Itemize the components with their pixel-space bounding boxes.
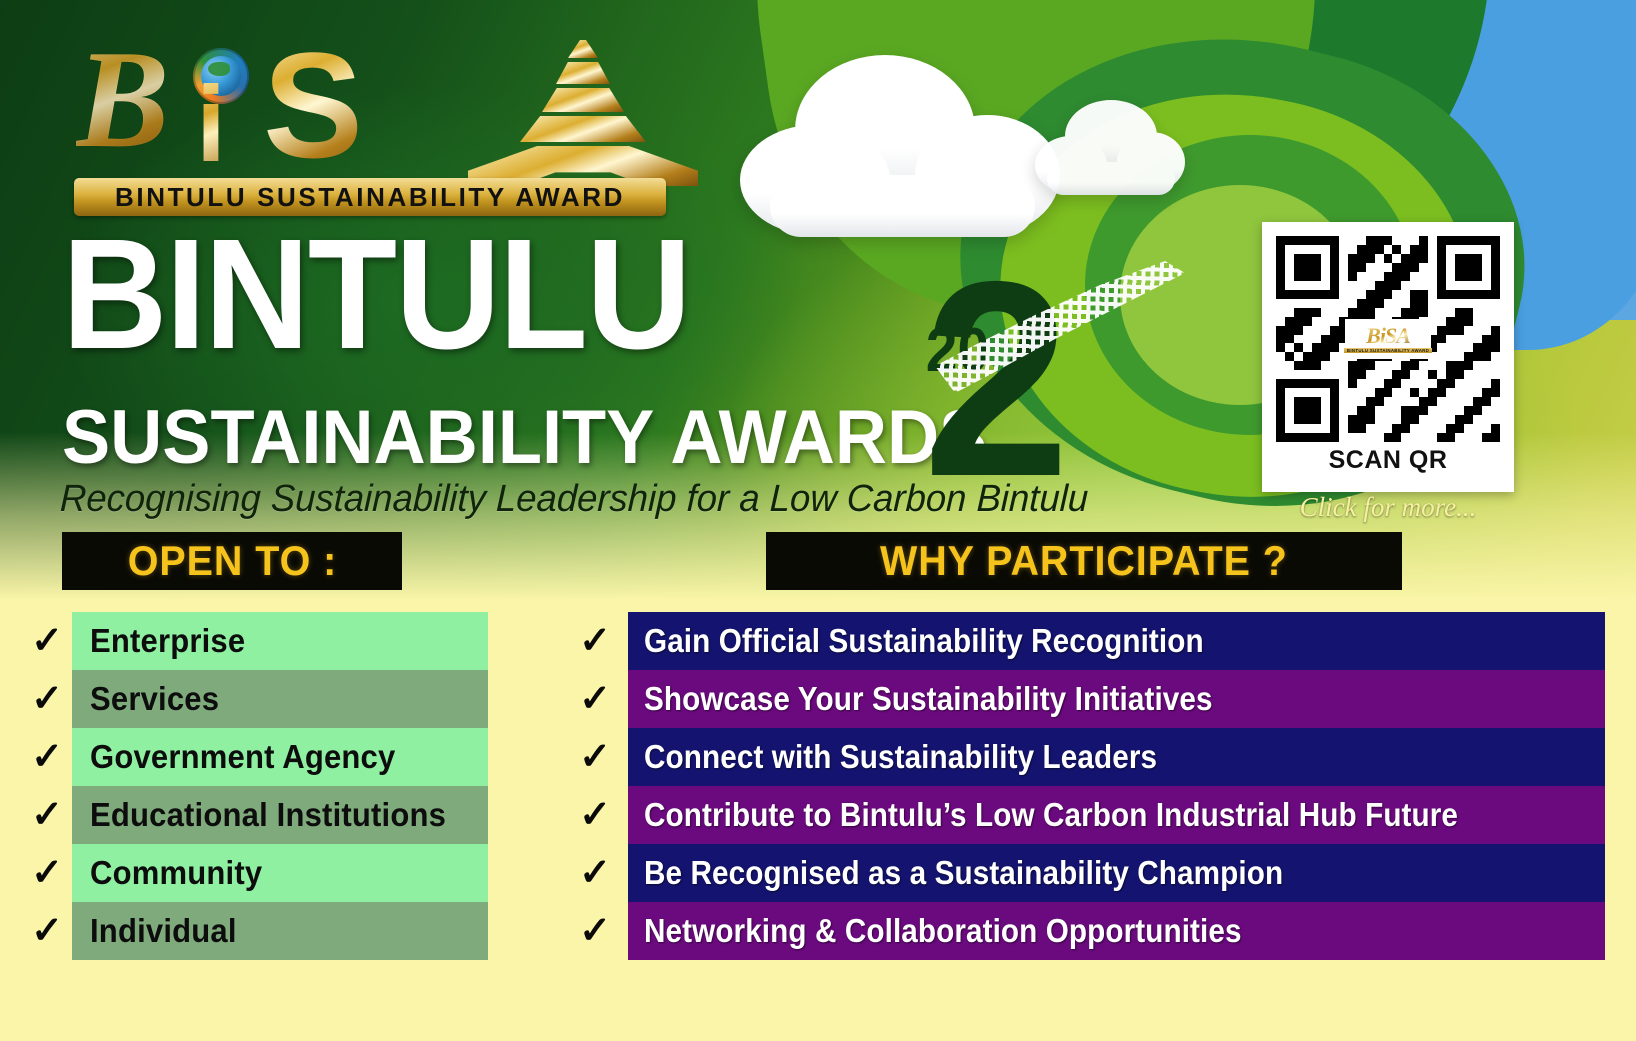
qr-module [1437, 272, 1446, 281]
page-subtitle: SUSTAINABILITY AWARDS [62, 400, 987, 476]
qr-module [1276, 406, 1285, 415]
qr-module [1419, 406, 1428, 415]
why-participate-label: Networking & Collaboration Opportunities [644, 912, 1242, 950]
qr-module [1464, 415, 1473, 424]
qr-module [1330, 424, 1339, 433]
qr-module [1348, 361, 1357, 370]
qr-module [1357, 263, 1366, 272]
qr-module [1303, 415, 1312, 424]
qr-module [1392, 424, 1401, 433]
qr-module [1303, 406, 1312, 415]
open-to-row-3: Government Agency [72, 728, 488, 786]
qr-module [1455, 254, 1464, 263]
qr-module [1330, 281, 1339, 290]
why-participate-label: Gain Official Sustainability Recognition [644, 622, 1204, 660]
qr-module [1312, 254, 1321, 263]
qr-module [1401, 263, 1410, 272]
qr-module [1419, 236, 1428, 245]
qr-module [1348, 308, 1357, 317]
qr-module [1401, 370, 1410, 379]
qr-module [1491, 245, 1500, 254]
qr-module [1410, 415, 1419, 424]
qr-module [1276, 415, 1285, 424]
qr-module [1357, 361, 1366, 370]
qr-module [1366, 245, 1375, 254]
qr-module [1294, 308, 1303, 317]
qr-module [1375, 397, 1384, 406]
qr-module [1464, 236, 1473, 245]
qr-module [1455, 370, 1464, 379]
list-item: ✓Services [22, 670, 488, 728]
qr-module [1437, 388, 1446, 397]
qr-module [1482, 433, 1491, 442]
section-heading-open-to-label: OPEN TO : [127, 537, 337, 585]
qr-module [1419, 308, 1428, 317]
qr-module [1384, 290, 1393, 299]
qr-module [1357, 245, 1366, 254]
open-to-label: Community [90, 854, 262, 892]
qr-module [1491, 379, 1500, 388]
qr-module [1330, 397, 1339, 406]
qr-module [1357, 415, 1366, 424]
qr-module [1366, 299, 1375, 308]
qr-module [1276, 290, 1285, 299]
qr-module [1366, 361, 1375, 370]
check-icon: ✓ [562, 844, 628, 902]
qr-module [1285, 326, 1294, 335]
qr-module [1392, 379, 1401, 388]
qr-module [1437, 245, 1446, 254]
qr-module [1294, 433, 1303, 442]
qr-module [1437, 379, 1446, 388]
qr-module [1446, 370, 1455, 379]
open-to-label: Individual [90, 912, 237, 950]
qr-module [1491, 254, 1500, 263]
qr-module [1276, 254, 1285, 263]
qr-module [1446, 290, 1455, 299]
why-participate-label: Showcase Your Sustainability Initiatives [644, 680, 1213, 718]
qr-module [1473, 290, 1482, 299]
open-to-row-6: Individual [72, 902, 488, 960]
qr-module [1321, 335, 1330, 344]
year-badge: 6 2 20 [905, 232, 1225, 497]
qr-module [1491, 388, 1500, 397]
bisa-logo[interactable]: B i S BINTULU SUSTAINABILITY AWARD [68, 22, 668, 217]
qr-module [1312, 397, 1321, 406]
qr-module [1312, 361, 1321, 370]
qr-module [1428, 370, 1437, 379]
qr-module [1410, 406, 1419, 415]
poster-canvas: B i S BINTULU SUSTAINABILITY AWARD BINTU… [0, 0, 1636, 1041]
qr-module [1276, 379, 1285, 388]
qr-module [1491, 263, 1500, 272]
qr-module [1276, 245, 1285, 254]
why-participate-label: Contribute to Bintulu’s Low Carbon Indus… [644, 796, 1458, 834]
qr-module [1473, 343, 1482, 352]
logo-letter-s: S [263, 30, 363, 180]
qr-module [1464, 290, 1473, 299]
qr-module [1294, 406, 1303, 415]
qr-module [1410, 263, 1419, 272]
why-participate-label: Connect with Sustainability Leaders [644, 738, 1157, 776]
qr-module [1392, 281, 1401, 290]
qr-module [1303, 254, 1312, 263]
qr-module [1285, 236, 1294, 245]
qr-module [1401, 308, 1410, 317]
qr-module [1321, 352, 1330, 361]
year-digit-6: 6 [1075, 240, 1222, 518]
qr-module [1312, 343, 1321, 352]
qr-module [1437, 263, 1446, 272]
qr-module [1473, 254, 1482, 263]
list-item: ✓Community [22, 844, 488, 902]
qr-module [1276, 433, 1285, 442]
qr-module [1392, 245, 1401, 254]
list-item: ✓Educational Institutions [22, 786, 488, 844]
qr-module [1303, 263, 1312, 272]
open-to-label: Services [90, 680, 219, 718]
list-item: ✓Government Agency [22, 728, 488, 786]
qr-module [1357, 254, 1366, 263]
qr-module [1375, 281, 1384, 290]
qr-module [1464, 308, 1473, 317]
qr-module [1455, 361, 1464, 370]
qr-module [1437, 290, 1446, 299]
qr-module [1321, 236, 1330, 245]
qr-module [1419, 254, 1428, 263]
open-to-row-1: Enterprise [72, 612, 488, 670]
qr-module [1312, 415, 1321, 424]
qr-module [1312, 308, 1321, 317]
qr-module [1348, 370, 1357, 379]
qr-module [1491, 236, 1500, 245]
qr-module [1464, 352, 1473, 361]
qr-module [1428, 397, 1437, 406]
qr-module [1276, 397, 1285, 406]
qr-module [1446, 326, 1455, 335]
qr-module [1294, 326, 1303, 335]
check-icon: ✓ [562, 786, 628, 844]
qr-module [1294, 254, 1303, 263]
check-icon: ✓ [22, 844, 72, 902]
qr-module [1303, 272, 1312, 281]
qr-module [1366, 236, 1375, 245]
qr-module [1375, 388, 1384, 397]
qr-module [1446, 317, 1455, 326]
qr-module [1384, 379, 1393, 388]
why-participate-row-5: Be Recognised as a Sustainability Champi… [628, 844, 1605, 902]
qr-module [1446, 379, 1455, 388]
qr-module [1491, 272, 1500, 281]
qr-module [1482, 388, 1491, 397]
qr-module [1321, 433, 1330, 442]
logo-letter-i: i [196, 70, 226, 178]
qr-module [1473, 263, 1482, 272]
qr-module [1366, 397, 1375, 406]
qr-module [1321, 290, 1330, 299]
qr-embedded-logo: BiSA BINTULU SUSTAINABILITY AWARD [1345, 319, 1431, 359]
qr-module [1276, 424, 1285, 433]
qr-module [1303, 397, 1312, 406]
list-item: ✓Networking & Collaboration Opportunitie… [562, 902, 1605, 960]
qr-module [1330, 379, 1339, 388]
qr-module [1464, 317, 1473, 326]
qr-module [1384, 388, 1393, 397]
section-heading-why-participate: WHY PARTICIPATE ? [766, 532, 1402, 590]
qr-module [1446, 424, 1455, 433]
qr-module [1392, 370, 1401, 379]
why-participate-row-6: Networking & Collaboration Opportunities [628, 902, 1605, 960]
qr-module [1294, 343, 1303, 352]
qr-module [1446, 236, 1455, 245]
qr-code-card[interactable]: BiSA BINTULU SUSTAINABILITY AWARD SCAN Q… [1262, 222, 1514, 492]
qr-module [1294, 236, 1303, 245]
open-to-list: ✓Enterprise✓Services✓Government Agency✓E… [22, 612, 488, 960]
qr-module [1473, 406, 1482, 415]
qr-module [1348, 272, 1357, 281]
qr-module [1464, 272, 1473, 281]
qr-module [1312, 272, 1321, 281]
qr-module [1410, 245, 1419, 254]
qr-module [1276, 272, 1285, 281]
qr-module [1392, 433, 1401, 442]
qr-module [1375, 299, 1384, 308]
qr-module [1384, 272, 1393, 281]
qr-module [1285, 433, 1294, 442]
qr-module [1285, 317, 1294, 326]
qr-module [1276, 388, 1285, 397]
qr-module [1401, 254, 1410, 263]
qr-module [1419, 290, 1428, 299]
qr-module [1473, 272, 1482, 281]
qr-module [1357, 299, 1366, 308]
qr-module [1303, 308, 1312, 317]
qr-module [1455, 272, 1464, 281]
why-participate-row-1: Gain Official Sustainability Recognition [628, 612, 1605, 670]
list-item: ✓Showcase Your Sustainability Initiative… [562, 670, 1605, 728]
qr-module [1348, 415, 1357, 424]
qr-module [1294, 379, 1303, 388]
why-participate-row-4: Contribute to Bintulu’s Low Carbon Indus… [628, 786, 1605, 844]
qr-module [1473, 397, 1482, 406]
check-icon: ✓ [22, 612, 72, 670]
qr-logo-mark: BiSA [1366, 325, 1410, 347]
open-to-label: Enterprise [90, 622, 245, 660]
qr-module [1482, 335, 1491, 344]
qr-module [1294, 290, 1303, 299]
qr-module [1384, 236, 1393, 245]
qr-module [1491, 433, 1500, 442]
list-item: ✓Connect with Sustainability Leaders [562, 728, 1605, 786]
qr-module [1482, 290, 1491, 299]
qr-module [1410, 388, 1419, 397]
qr-module [1294, 361, 1303, 370]
qr-module [1464, 254, 1473, 263]
qr-module [1473, 236, 1482, 245]
qr-module [1384, 433, 1393, 442]
logo-letter-b: B [76, 30, 169, 170]
qr-module [1276, 335, 1285, 344]
list-item: ✓Enterprise [22, 612, 488, 670]
qr-module [1330, 263, 1339, 272]
qr-module [1366, 308, 1375, 317]
qr-module [1455, 326, 1464, 335]
qr-module [1330, 272, 1339, 281]
qr-module [1401, 272, 1410, 281]
qr-module [1392, 272, 1401, 281]
qr-module [1330, 335, 1339, 344]
qr-module [1464, 406, 1473, 415]
qr-module [1357, 424, 1366, 433]
check-icon: ✓ [562, 612, 628, 670]
bisa-logo-mark: B i S [68, 22, 668, 172]
qr-module [1330, 433, 1339, 442]
qr-module [1491, 424, 1500, 433]
qr-module [1437, 236, 1446, 245]
check-icon: ✓ [562, 670, 628, 728]
qr-module [1437, 433, 1446, 442]
qr-module [1455, 317, 1464, 326]
qr-module [1330, 326, 1339, 335]
qr-module [1410, 254, 1419, 263]
why-participate-row-2: Showcase Your Sustainability Initiatives [628, 670, 1605, 728]
why-participate-row-3: Connect with Sustainability Leaders [628, 728, 1605, 786]
qr-module [1312, 290, 1321, 299]
section-heading-open-to: OPEN TO : [62, 532, 402, 590]
qr-module [1303, 352, 1312, 361]
qr-module [1419, 245, 1428, 254]
qr-module [1357, 370, 1366, 379]
qr-module [1410, 290, 1419, 299]
qr-module [1375, 290, 1384, 299]
list-item: ✓Individual [22, 902, 488, 960]
check-icon: ✓ [562, 902, 628, 960]
why-participate-list: ✓Gain Official Sustainability Recognitio… [562, 612, 1605, 960]
qr-module [1455, 415, 1464, 424]
qr-module [1366, 406, 1375, 415]
qr-module [1276, 236, 1285, 245]
qr-module [1401, 424, 1410, 433]
qr-module [1401, 406, 1410, 415]
qr-module [1285, 379, 1294, 388]
qr-module [1357, 308, 1366, 317]
qr-module [1419, 299, 1428, 308]
qr-module [1410, 361, 1419, 370]
pyramid-tower-icon [468, 40, 698, 185]
qr-module [1401, 361, 1410, 370]
qr-module [1482, 397, 1491, 406]
check-icon: ✓ [22, 728, 72, 786]
qr-module [1276, 263, 1285, 272]
qr-module [1428, 388, 1437, 397]
qr-module [1437, 326, 1446, 335]
page-title: BINTULU [62, 222, 690, 368]
qr-module [1330, 236, 1339, 245]
qr-module [1437, 335, 1446, 344]
qr-module [1330, 343, 1339, 352]
qr-module [1384, 281, 1393, 290]
open-to-row-5: Community [72, 844, 488, 902]
qr-module [1455, 424, 1464, 433]
qr-caption: SCAN QR [1276, 446, 1500, 475]
qr-code-icon[interactable]: BiSA BINTULU SUSTAINABILITY AWARD [1276, 236, 1500, 442]
qr-module [1276, 326, 1285, 335]
qr-module [1285, 290, 1294, 299]
qr-module [1348, 424, 1357, 433]
qr-module [1330, 254, 1339, 263]
qr-module [1482, 352, 1491, 361]
qr-module [1455, 236, 1464, 245]
qr-module [1294, 263, 1303, 272]
qr-module [1294, 415, 1303, 424]
qr-module [1276, 281, 1285, 290]
qr-module [1303, 379, 1312, 388]
open-to-label: Educational Institutions [90, 796, 446, 834]
check-icon: ✓ [22, 786, 72, 844]
qr-module [1491, 326, 1500, 335]
qr-module [1410, 299, 1419, 308]
qr-logo-caption: BINTULU SUSTAINABILITY AWARD [1344, 348, 1432, 353]
qr-module [1303, 236, 1312, 245]
qr-module [1464, 263, 1473, 272]
qr-module [1446, 433, 1455, 442]
qr-module [1446, 361, 1455, 370]
qr-module [1276, 343, 1285, 352]
qr-module [1464, 361, 1473, 370]
qr-module [1303, 433, 1312, 442]
list-item: ✓Contribute to Bintulu’s Low Carbon Indu… [562, 786, 1605, 844]
year-prefix: 20 [926, 320, 989, 382]
list-item: ✓Be Recognised as a Sustainability Champ… [562, 844, 1605, 902]
qr-module [1473, 352, 1482, 361]
qr-module [1366, 254, 1375, 263]
check-icon: ✓ [22, 902, 72, 960]
section-heading-why-participate-label: WHY PARTICIPATE ? [880, 537, 1288, 585]
qr-module [1303, 361, 1312, 370]
qr-module [1410, 308, 1419, 317]
qr-module [1455, 308, 1464, 317]
qr-module [1482, 343, 1491, 352]
qr-module [1303, 290, 1312, 299]
qr-module [1294, 317, 1303, 326]
qr-module [1312, 379, 1321, 388]
qr-module [1294, 272, 1303, 281]
qr-module [1330, 245, 1339, 254]
qr-module [1419, 397, 1428, 406]
qr-module [1321, 379, 1330, 388]
check-icon: ✓ [562, 728, 628, 786]
qr-module [1303, 317, 1312, 326]
qr-module [1330, 415, 1339, 424]
qr-module [1330, 388, 1339, 397]
qr-module [1330, 290, 1339, 299]
qr-module [1375, 236, 1384, 245]
qr-module [1482, 236, 1491, 245]
qr-module [1312, 433, 1321, 442]
qr-module [1312, 406, 1321, 415]
qr-module [1491, 335, 1500, 344]
qr-module [1348, 379, 1357, 388]
cloud-icon [740, 55, 1060, 235]
open-to-row-4: Educational Institutions [72, 786, 488, 844]
qr-click-hint[interactable]: Click for more... [1262, 492, 1514, 523]
qr-module [1312, 352, 1321, 361]
cloud-icon-small [1035, 100, 1185, 195]
qr-module [1375, 245, 1384, 254]
qr-module [1330, 406, 1339, 415]
check-icon: ✓ [22, 670, 72, 728]
qr-module [1312, 263, 1321, 272]
